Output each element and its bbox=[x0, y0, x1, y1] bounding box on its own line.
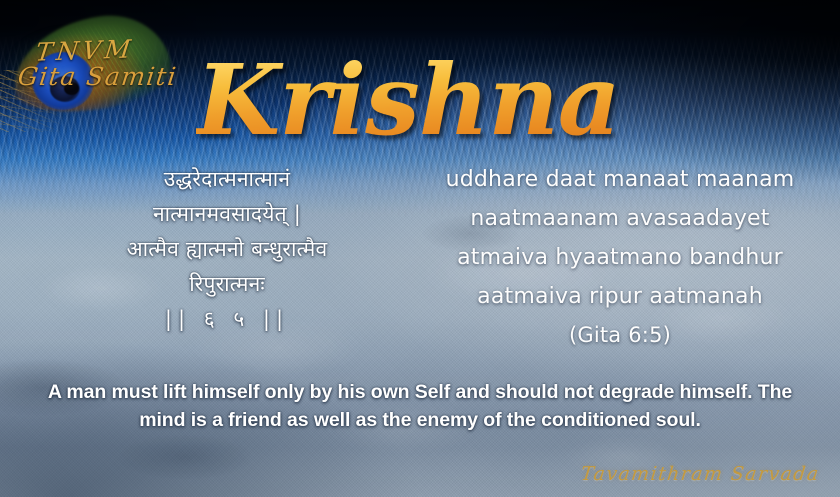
signature-text: Tavamithram Sarvada bbox=[580, 463, 821, 485]
verse-translation: A man must lift himself only by his own … bbox=[24, 378, 816, 434]
sanskrit-line-1: उद्धरेदात्मनात्मानं bbox=[32, 162, 422, 197]
sanskrit-verse-number: || ६ ५ || bbox=[32, 302, 422, 337]
krishna-gita-verse-poster: TNVM Gita Samiti Krishna उद्धरेदात्मनात्… bbox=[0, 0, 840, 497]
sanskrit-verse-block: उद्धरेदात्मनात्मानं नात्मानमवसादयेत् | आ… bbox=[32, 162, 422, 337]
sanskrit-line-3: आत्मैव ह्यात्मनो बन्धुरात्मैव bbox=[32, 232, 422, 267]
transliteration-line-3: atmaiva hyaatmano bandhur bbox=[420, 238, 820, 277]
page-title: Krishna bbox=[196, 46, 666, 154]
sanskrit-line-4: रिपुरात्मनः bbox=[32, 267, 422, 302]
logo-org-name: Gita Samiti bbox=[16, 62, 179, 91]
transliteration-line-2: naatmaanam avasaadayet bbox=[420, 199, 820, 238]
verse-reference: (Gita 6:5) bbox=[420, 316, 820, 355]
sanskrit-line-2: नात्मानमवसादयेत् | bbox=[32, 197, 422, 232]
transliteration-block: uddhare daat manaat maanam naatmaanam av… bbox=[420, 160, 820, 355]
transliteration-line-1: uddhare daat manaat maanam bbox=[420, 160, 820, 199]
transliteration-line-4: aatmaiva ripur aatmanah bbox=[420, 277, 820, 316]
